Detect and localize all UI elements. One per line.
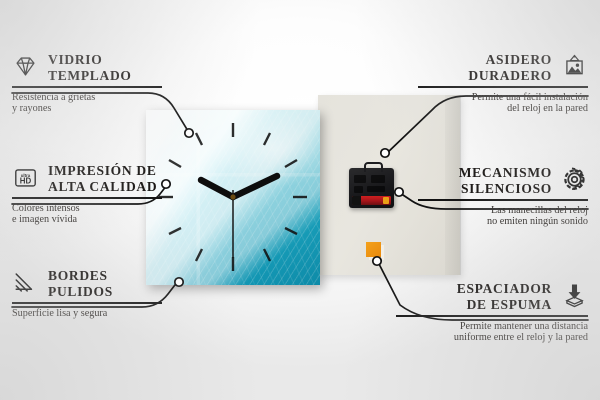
feature-title-line1: IMPRESIÓN DE — [48, 163, 157, 179]
feature-subtitle-line2: del reloj en la pared — [418, 103, 588, 115]
battery — [352, 196, 391, 205]
feature-title-line2: TEMPLADO — [48, 68, 132, 84]
feature-asidero-duradero: ASIDERO DURADERO Permite una fácil insta… — [418, 52, 588, 115]
feature-title-line1: VIDRIO — [48, 52, 132, 68]
feature-subtitle-line2: no emiten ningún sonido — [418, 216, 588, 228]
feature-subtitle-line1: Colores intensos — [12, 203, 162, 215]
mechanism-detail — [354, 186, 363, 193]
feature-title-line2: DURADERO — [468, 68, 552, 84]
feature-impresion-alta-calidad: ultra HD IMPRESIÓN DE ALTA CALIDAD Color… — [12, 163, 162, 226]
feature-divider — [396, 315, 588, 317]
feature-title-line1: BORDES — [48, 268, 113, 284]
clock-hour-hand — [201, 180, 233, 197]
feature-title-line1: ASIDERO — [468, 52, 552, 68]
clock-minute-hand — [233, 176, 277, 197]
feature-subtitle-line1: Permite mantener una distancia — [396, 321, 588, 333]
battery-negative-end — [352, 196, 361, 205]
feature-subtitle-line1: Superficie lisa y segura — [12, 308, 162, 320]
gear-icon — [561, 166, 588, 193]
feature-divider — [418, 86, 588, 88]
foam-spacer-pad — [366, 242, 381, 257]
feature-subtitle-line2: y rayones — [12, 103, 162, 115]
feature-vidrio-templado: VIDRIO TEMPLADO Resistencia a grietas y … — [12, 52, 162, 115]
feature-mecanismo-silencioso: MECANISMO SILENCIOSO Las manecillas del … — [418, 165, 588, 228]
feature-subtitle-line2: uniforme entre el reloj y la pared — [396, 332, 588, 344]
feature-title-line2: SILENCIOSO — [459, 181, 552, 197]
feature-title-line2: ALTA CALIDAD — [48, 179, 157, 195]
feature-divider — [12, 302, 162, 304]
mechanism-detail — [371, 175, 385, 183]
framed-picture-icon — [561, 53, 588, 80]
feature-title-line2: PULIDOS — [48, 284, 113, 300]
feature-espaciador-de-espuma: ESPACIADOR DE ESPUMA Permite mantener un… — [396, 281, 588, 344]
feature-subtitle-line1: Permite una fácil instalación — [418, 92, 588, 104]
wall-clock-product — [146, 110, 320, 285]
feature-subtitle-line2: e imagen vívida — [12, 214, 162, 226]
ultra-hd-badge-icon: ultra HD — [12, 164, 39, 191]
feature-title-line2: DE ESPUMA — [457, 297, 552, 313]
clock-center-pin — [230, 194, 235, 199]
battery-positive-end — [383, 197, 389, 204]
feature-title-line1: MECANISMO — [459, 165, 552, 181]
feature-divider — [418, 199, 588, 201]
mechanism-detail — [354, 175, 366, 183]
mechanism-detail — [367, 186, 385, 192]
mechanism-hanger-hook — [364, 162, 383, 172]
feature-divider — [12, 197, 162, 199]
svg-text:HD: HD — [20, 177, 32, 186]
polished-edges-icon — [12, 269, 39, 296]
feature-title-line1: ESPACIADOR — [457, 281, 552, 297]
feature-bordes-pulidos: BORDES PULIDOS Superficie lisa y segura — [12, 268, 162, 319]
diamond-icon — [12, 53, 39, 80]
infographic-canvas: VIDRIO TEMPLADO Resistencia a grietas y … — [0, 0, 600, 400]
feature-subtitle-line1: Resistencia a grietas — [12, 92, 162, 104]
clock-face — [146, 110, 320, 285]
feature-divider — [12, 86, 162, 88]
foam-spacer-arrow-icon — [561, 282, 588, 309]
clock-mechanism — [349, 168, 394, 208]
feature-subtitle-line1: Las manecillas del reloj — [418, 205, 588, 217]
